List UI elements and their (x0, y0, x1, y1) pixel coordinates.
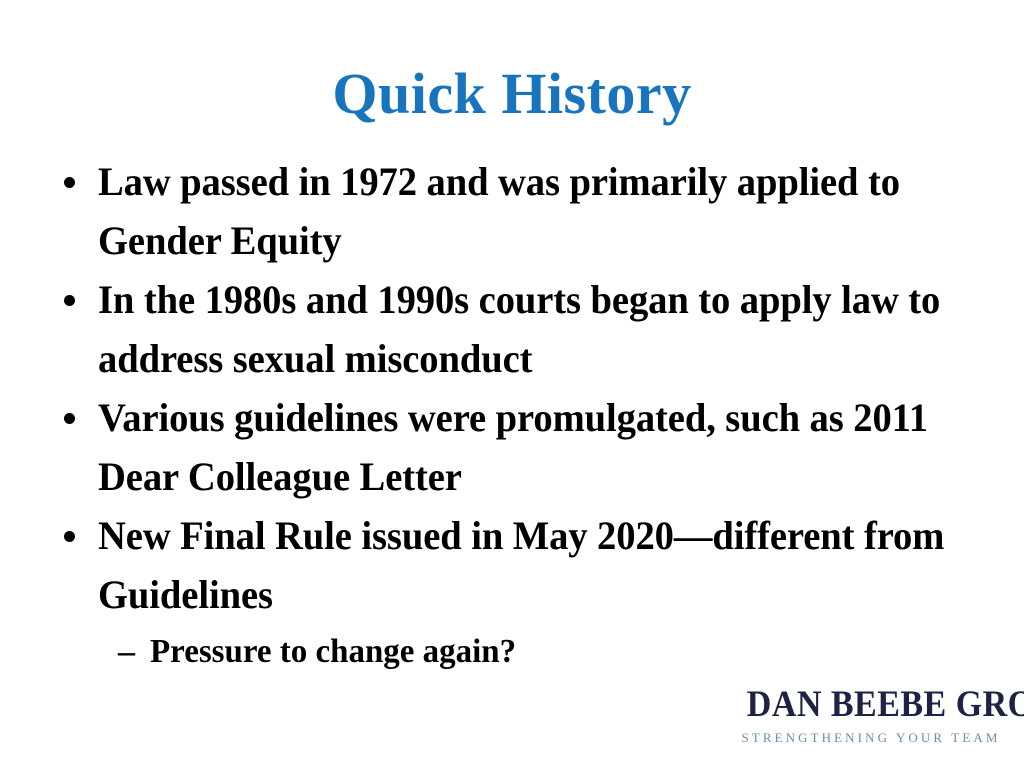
list-item: Various guidelines were promulgated, suc… (56, 388, 986, 506)
dash-bullet-icon: – (118, 624, 150, 680)
list-item: In the 1980s and 1990s courts began to a… (56, 270, 986, 388)
logo-wordmark: DAN BEEBE GROUP (747, 686, 995, 724)
sub-list-item-label: Pressure to change again? (150, 624, 961, 680)
list-item-label: New Final Rule issued in May 2020—differ… (98, 506, 955, 624)
bullet-list: Law passed in 1972 and was primarily app… (56, 152, 986, 680)
list-item-label: Various guidelines were promulgated, suc… (98, 388, 955, 506)
sub-list-item: – Pressure to change again? (56, 624, 986, 680)
dan-beebe-group-logo: DAN BEEBE GROUP STRENGTHENING YOUR TEAM (736, 686, 1006, 746)
logo-tagline: STRENGTHENING YOUR TEAM (736, 730, 1006, 746)
list-item-label: Law passed in 1972 and was primarily app… (98, 152, 955, 270)
list-item: Law passed in 1972 and was primarily app… (56, 152, 986, 270)
bullet-dot-icon (56, 270, 98, 329)
list-item: New Final Rule issued in May 2020—differ… (56, 506, 986, 624)
bullet-dot-icon (56, 506, 98, 565)
slide-canvas: Quick History Law passed in 1972 and was… (0, 0, 1024, 768)
page-title: Quick History (0, 60, 1024, 128)
bullet-dot-icon (56, 152, 98, 211)
list-item-label: In the 1980s and 1990s courts began to a… (98, 270, 955, 388)
bullet-dot-icon (56, 388, 98, 447)
